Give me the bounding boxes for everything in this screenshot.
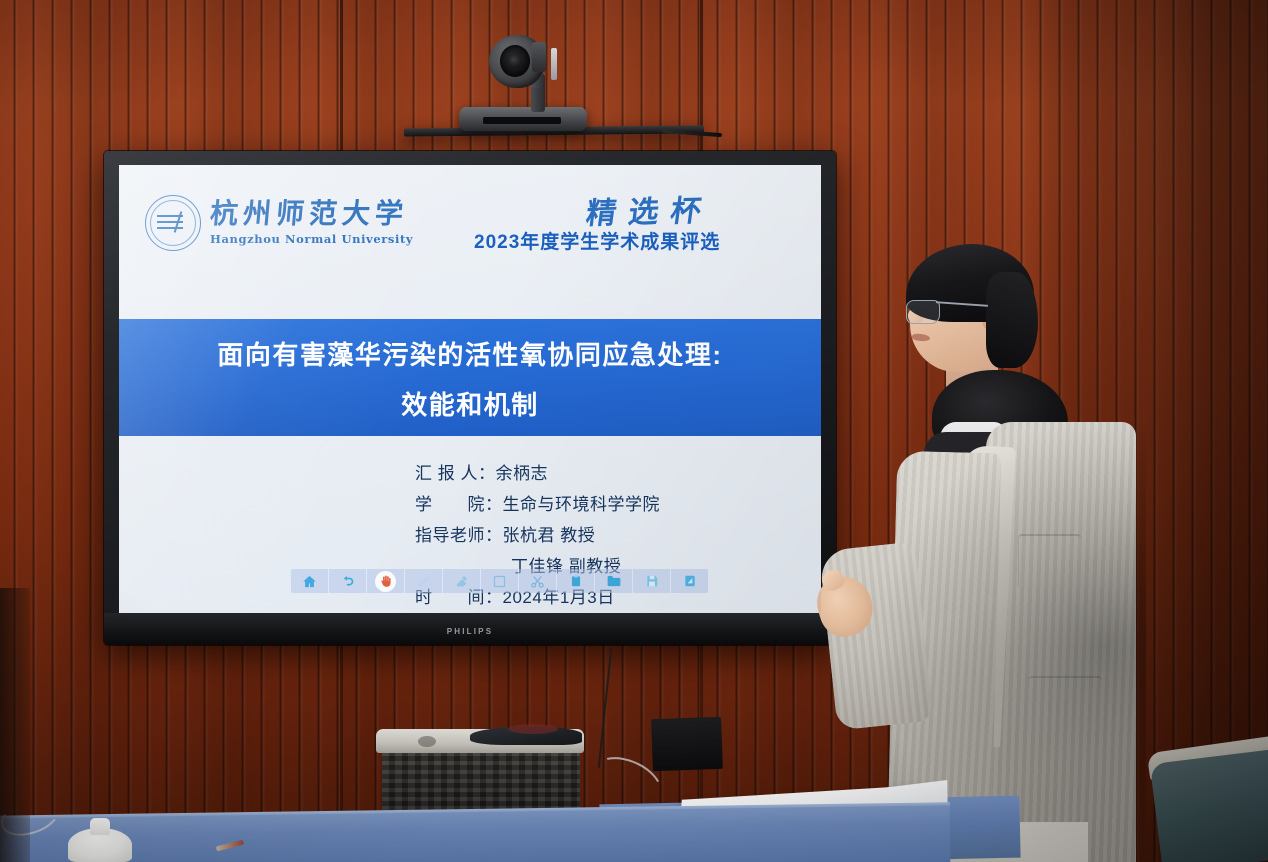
cut-icon[interactable] [519,569,557,593]
undo-icon[interactable] [329,569,367,593]
conference-room-scene: PHILIPS 杭州师范大学 Hangzhou Normal Universit… [0,0,1268,862]
clipboard-icon[interactable] [557,569,595,593]
whiteboard-toolbar[interactable] [291,569,708,593]
pen-icon[interactable] [405,569,443,593]
home-icon[interactable] [291,569,329,593]
share-icon[interactable] [671,569,708,593]
shape-icon[interactable] [481,569,519,593]
save-icon[interactable] [633,569,671,593]
hand-icon[interactable] [367,569,405,593]
folder-icon[interactable] [595,569,633,593]
eraser-icon[interactable] [443,569,481,593]
photo-vignette [0,0,1268,862]
